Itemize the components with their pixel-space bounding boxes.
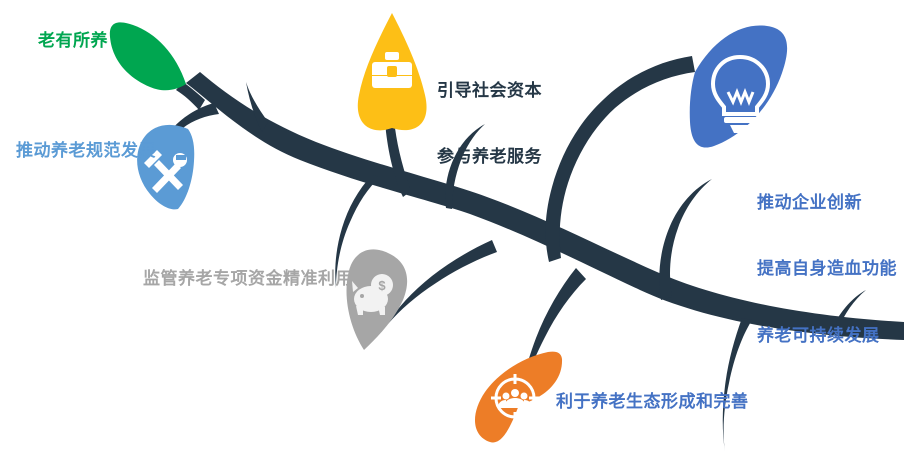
leaf-target[interactable] bbox=[475, 352, 562, 443]
leaf-tools[interactable] bbox=[137, 125, 194, 209]
label-bulb-leaf: 推动企业创新 提高自身造血功能 养老可持续发展 bbox=[757, 148, 897, 391]
branch-spike-right-lower bbox=[723, 318, 752, 452]
svg-text:$: $ bbox=[378, 278, 386, 293]
leaf-target-shape bbox=[475, 352, 562, 443]
diagram-canvas: $ 老有所养 推动养老规范发展 引导社会资本 参与养老服务 推动企业创新 提高 bbox=[0, 0, 904, 471]
branch-spike-right-upper bbox=[659, 179, 712, 300]
leaf-bulb[interactable] bbox=[690, 25, 787, 147]
label-piggy-leaf: 监管养老专项资金精准利用 bbox=[143, 268, 353, 290]
leaf-briefcase[interactable] bbox=[358, 13, 427, 130]
label-bulb-line-1: 推动企业创新 bbox=[757, 192, 897, 214]
label-tools-leaf: 推动养老规范发展 bbox=[16, 140, 156, 162]
label-bulb-line-3: 养老可持续发展 bbox=[757, 325, 897, 347]
label-briefcase-leaf: 引导社会资本 参与养老服务 bbox=[437, 36, 542, 213]
label-green-leaf: 老有所养 bbox=[38, 30, 108, 52]
leaf-piggy[interactable]: $ bbox=[346, 249, 407, 350]
label-target-leaf: 利于养老生态形成和完善 bbox=[556, 391, 749, 413]
leaf-green[interactable] bbox=[110, 22, 186, 90]
label-briefcase-line-1: 引导社会资本 bbox=[437, 80, 542, 102]
label-bulb-line-2: 提高自身造血功能 bbox=[757, 258, 897, 280]
leaf-green-shape bbox=[110, 22, 186, 90]
label-briefcase-line-2: 参与养老服务 bbox=[437, 146, 542, 168]
